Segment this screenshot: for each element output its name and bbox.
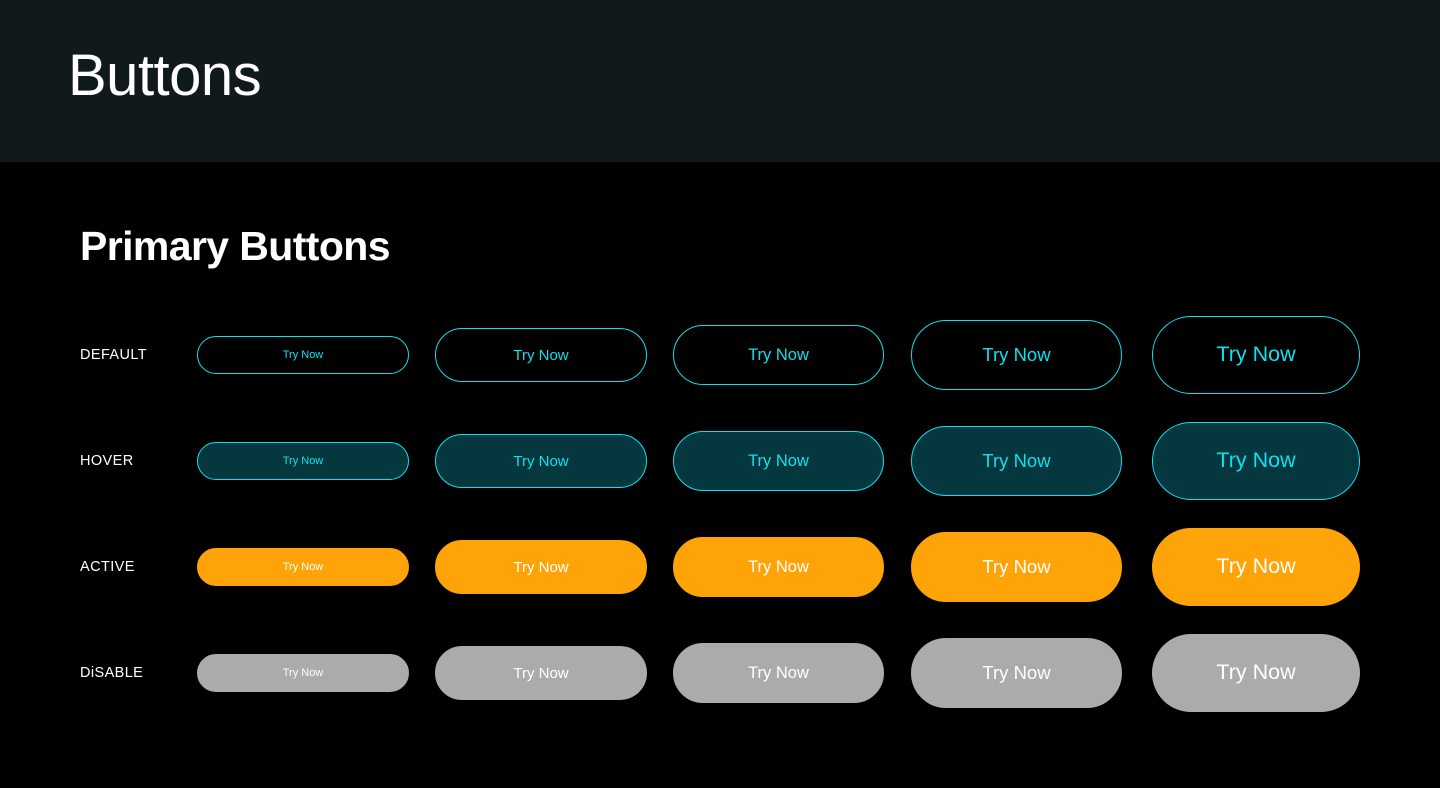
button-active-lg[interactable]: Try Now (911, 532, 1122, 602)
state-row-active: ACTIVE Try Now Try Now Try Now Try Now T… (0, 530, 1440, 636)
page-header-band: Buttons (0, 0, 1440, 162)
button-hover-sm[interactable]: Try Now (435, 434, 647, 488)
button-disabled-sm: Try Now (435, 646, 647, 700)
button-default-lg[interactable]: Try Now (911, 320, 1122, 390)
button-disabled-xs: Try Now (197, 654, 409, 692)
button-track-disable: Try Now Try Now Try Now Try Now Try Now (197, 636, 1360, 710)
button-track-default: Try Now Try Now Try Now Try Now Try Now (197, 318, 1360, 392)
button-disabled-lg: Try Now (911, 638, 1122, 708)
button-hover-md[interactable]: Try Now (673, 431, 884, 491)
state-label-active: ACTIVE (80, 530, 135, 604)
state-label-disable: DiSABLE (80, 636, 143, 710)
button-default-md[interactable]: Try Now (673, 325, 884, 385)
buttons-style-guide-page: Buttons Primary Buttons DEFAULT Try Now … (0, 0, 1440, 788)
button-hover-xl[interactable]: Try Now (1152, 422, 1360, 500)
page-title: Buttons (68, 44, 261, 108)
button-state-rows: DEFAULT Try Now Try Now Try Now Try Now … (0, 318, 1440, 742)
button-default-xl[interactable]: Try Now (1152, 316, 1360, 394)
button-active-md[interactable]: Try Now (673, 537, 884, 597)
state-label-default: DEFAULT (80, 318, 147, 392)
button-active-xl[interactable]: Try Now (1152, 528, 1360, 606)
button-disabled-md: Try Now (673, 643, 884, 703)
section-title-primary-buttons: Primary Buttons (80, 224, 390, 269)
button-default-xs[interactable]: Try Now (197, 336, 409, 374)
button-track-hover: Try Now Try Now Try Now Try Now Try Now (197, 424, 1360, 498)
state-row-default: DEFAULT Try Now Try Now Try Now Try Now … (0, 318, 1440, 424)
state-row-hover: HOVER Try Now Try Now Try Now Try Now Tr… (0, 424, 1440, 530)
button-disabled-xl: Try Now (1152, 634, 1360, 712)
button-hover-xs[interactable]: Try Now (197, 442, 409, 480)
state-label-hover: HOVER (80, 424, 134, 498)
state-row-disable: DiSABLE Try Now Try Now Try Now Try Now … (0, 636, 1440, 742)
button-active-xs[interactable]: Try Now (197, 548, 409, 586)
button-default-sm[interactable]: Try Now (435, 328, 647, 382)
button-hover-lg[interactable]: Try Now (911, 426, 1122, 496)
button-track-active: Try Now Try Now Try Now Try Now Try Now (197, 530, 1360, 604)
button-active-sm[interactable]: Try Now (435, 540, 647, 594)
